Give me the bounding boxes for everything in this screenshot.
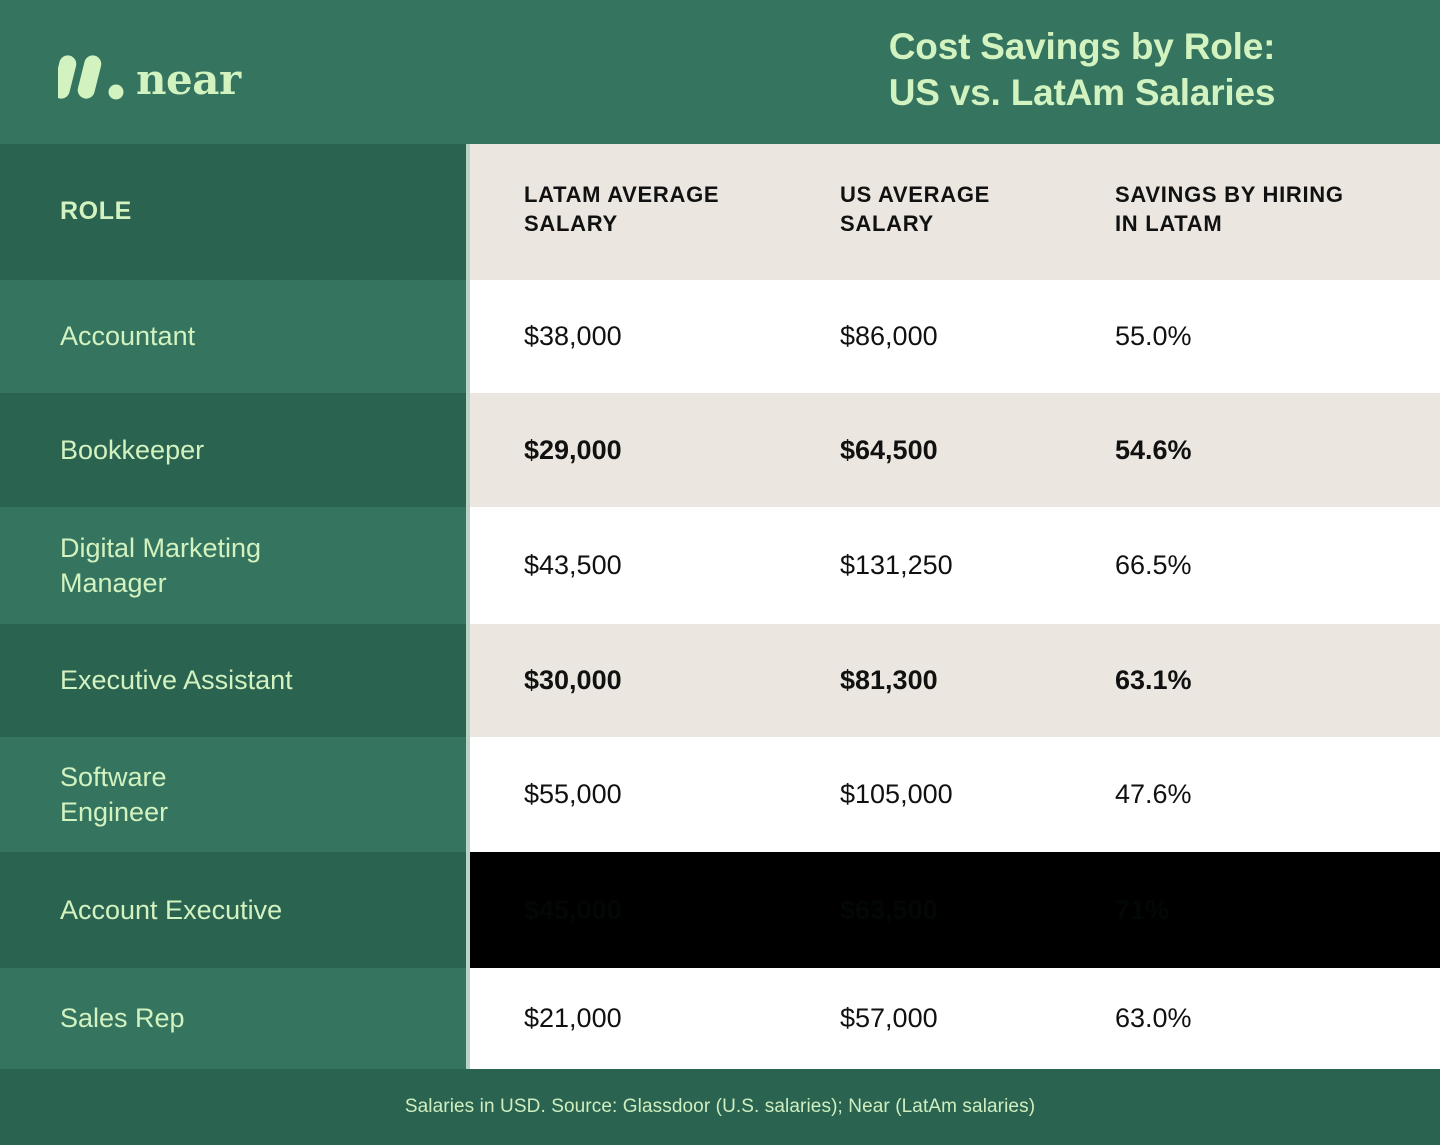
row-data-cells: $21,000 $57,000 63.0% (466, 968, 1440, 1069)
row-data-cells: $38,000 $86,000 55.0% (466, 280, 1440, 393)
column-header-savings: SAVINGS BY HIRING IN LATAM (1115, 180, 1440, 238)
column-header-role: ROLE (0, 144, 466, 280)
column-header-latam-line1: LATAM AVERAGE (524, 180, 840, 209)
footer-source-note: Salaries in USD. Source: Glassdoor (U.S.… (405, 1096, 1035, 1118)
row-savings-percent: 66.5% (1115, 549, 1440, 581)
row-data-cells: $29,000 $64,500 54.6% (466, 393, 1440, 507)
near-logo-mark (58, 52, 134, 100)
row-us-salary: $64,500 (840, 434, 1115, 466)
salary-comparison-table: ROLE LATAM AVERAGE SALARY US AVERAGE SAL… (0, 144, 1440, 1069)
row-savings-percent: 54.6% (1115, 434, 1440, 466)
row-savings-percent: 63.0% (1115, 1002, 1440, 1034)
row-latam-salary: $29,000 (524, 434, 840, 466)
row-role-label: Sales Rep (60, 1001, 185, 1035)
column-header-us: US AVERAGE SALARY (840, 180, 1115, 238)
table-row[interactable]: Executive Assistant $30,000 $81,300 63.1… (0, 624, 1440, 737)
row-data-cells: $43,500 $131,250 66.5% (466, 507, 1440, 624)
near-logo: near (58, 46, 241, 106)
table-row-redacted[interactable]: Account Executive $45,000 $63,500 71% (0, 852, 1440, 968)
row-role-cell: Account Executive (0, 852, 466, 968)
table-header-data-cells: LATAM AVERAGE SALARY US AVERAGE SALARY S… (466, 144, 1440, 280)
row-us-salary: $131,250 (840, 549, 1115, 581)
row-role-label: Account Executive (60, 893, 282, 927)
column-header-latam: LATAM AVERAGE SALARY (524, 180, 840, 238)
row-role-label-line1: Digital Marketing (60, 533, 261, 563)
row-latam-salary: $38,000 (524, 320, 840, 352)
table-row[interactable]: Sales Rep $21,000 $57,000 63.0% (0, 968, 1440, 1069)
row-latam-salary: $45,000 (524, 894, 840, 926)
column-header-savings-line1: SAVINGS BY HIRING (1115, 180, 1440, 209)
column-header-us-line1: US AVERAGE (840, 180, 1115, 209)
row-savings-percent: 71% (1115, 894, 1440, 926)
row-latam-salary: $30,000 (524, 664, 840, 696)
row-us-salary: $81,300 (840, 664, 1115, 696)
row-data-cells: $30,000 $81,300 63.1% (466, 624, 1440, 737)
row-latam-salary: $21,000 (524, 1002, 840, 1034)
row-us-salary: $86,000 (840, 320, 1115, 352)
row-data-cells: $55,000 $105,000 47.6% (466, 737, 1440, 852)
near-wordmark: near (136, 59, 241, 101)
row-latam-salary: $55,000 (524, 778, 840, 810)
row-savings-percent: 63.1% (1115, 664, 1440, 696)
row-role-label: Accountant (60, 319, 195, 353)
row-us-salary: $63,500 (840, 894, 1115, 926)
infographic-root: near Cost Savings by Role: US vs. LatAm … (0, 0, 1440, 1145)
table-row[interactable]: Digital Marketing Manager $43,500 $131,2… (0, 507, 1440, 624)
row-role-label: Executive Assistant (60, 663, 293, 697)
row-role-label: Software Engineer (60, 760, 168, 829)
row-role-cell: Sales Rep (0, 968, 466, 1069)
column-header-savings-line2: IN LATAM (1115, 209, 1440, 238)
top-banner: near Cost Savings by Role: US vs. LatAm … (0, 0, 1440, 144)
row-role-label: Digital Marketing Manager (60, 531, 261, 600)
row-data-cells-redacted: $45,000 $63,500 71% (466, 852, 1440, 968)
table-row[interactable]: Bookkeeper $29,000 $64,500 54.6% (0, 393, 1440, 507)
title-line-2: US vs. LatAm Salaries (772, 70, 1392, 116)
row-role-label-line1: Software (60, 762, 167, 792)
row-role-cell: Bookkeeper (0, 393, 466, 507)
row-latam-salary: $43,500 (524, 549, 840, 581)
table-row[interactable]: Software Engineer $55,000 $105,000 47.6% (0, 737, 1440, 852)
row-role-label: Bookkeeper (60, 433, 204, 467)
row-role-cell: Software Engineer (0, 737, 466, 852)
row-role-label-line2: Engineer (60, 797, 168, 827)
column-header-us-line2: SALARY (840, 209, 1115, 238)
row-role-label-line2: Manager (60, 568, 167, 598)
row-us-salary: $105,000 (840, 778, 1115, 810)
table-row[interactable]: Accountant $38,000 $86,000 55.0% (0, 280, 1440, 393)
table-header-row: ROLE LATAM AVERAGE SALARY US AVERAGE SAL… (0, 144, 1440, 280)
column-header-latam-line2: SALARY (524, 209, 840, 238)
row-savings-percent: 55.0% (1115, 320, 1440, 352)
page-title: Cost Savings by Role: US vs. LatAm Salar… (772, 24, 1392, 116)
title-line-1: Cost Savings by Role: (772, 24, 1392, 70)
row-role-cell: Accountant (0, 280, 466, 393)
column-header-role-label: ROLE (60, 196, 132, 228)
footer-bar: Salaries in USD. Source: Glassdoor (U.S.… (0, 1069, 1440, 1145)
row-role-cell: Digital Marketing Manager (0, 507, 466, 624)
row-us-salary: $57,000 (840, 1002, 1115, 1034)
row-savings-percent: 47.6% (1115, 778, 1440, 810)
row-role-cell: Executive Assistant (0, 624, 466, 737)
